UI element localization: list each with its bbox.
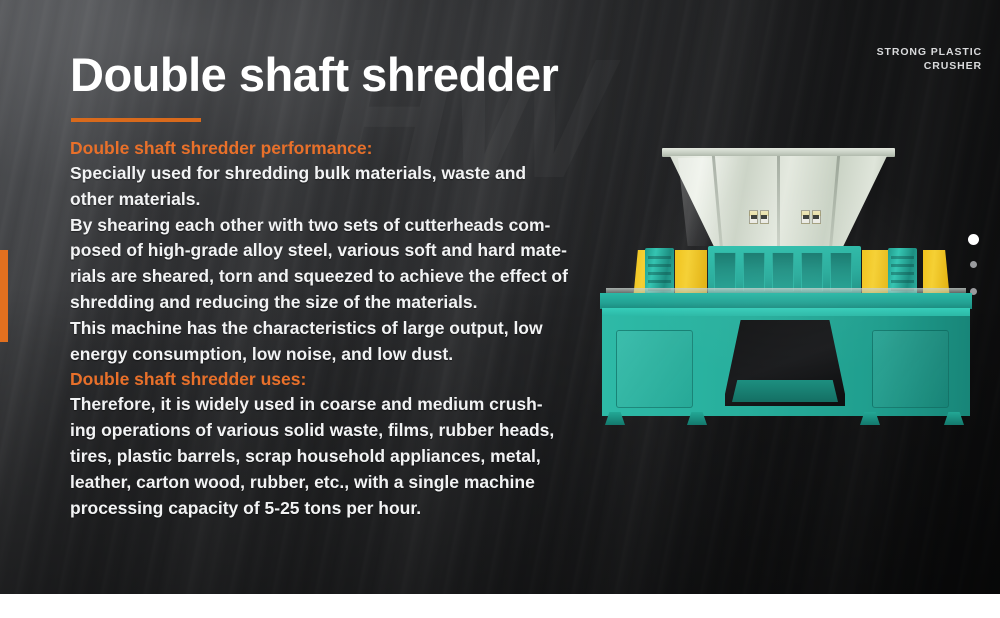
cutter-chamber — [772, 252, 794, 292]
body-line: This machine has the characteristics of … — [70, 316, 575, 342]
brand-label: STRONG PLASTIC CRUSHER — [877, 45, 982, 73]
warning-sticker-icon — [801, 210, 810, 224]
body-line: processing capacity of 5-25 tons per hou… — [70, 496, 575, 522]
body-line: other materials. — [70, 187, 575, 213]
left-accent-bar — [0, 250, 8, 342]
section-heading-uses: Double shaft shredder uses: — [70, 367, 575, 392]
hopper-warning-label — [801, 210, 821, 224]
page-title: Double shaft shredder — [70, 48, 575, 102]
body-line: Therefore, it is widely used in coarse a… — [70, 392, 575, 418]
brand-label-line-2: CRUSHER — [877, 59, 982, 73]
cutter-chamber — [801, 252, 823, 292]
deck-plate — [600, 293, 972, 309]
body-line: Specially used for shredding bulk materi… — [70, 161, 575, 187]
warning-sticker-icon — [749, 210, 758, 224]
cutter-chamber — [714, 252, 736, 292]
base-side-panel — [872, 330, 949, 408]
product-banner: HW STRONG PLASTIC CRUSHER Double shaft s… — [0, 0, 1000, 594]
body-line: rials are sheared, torn and squeezed to … — [70, 264, 575, 290]
base-inner-floor — [732, 380, 838, 402]
body-line: ing operations of various solid waste, f… — [70, 418, 575, 444]
brand-label-line-1: STRONG PLASTIC — [877, 45, 982, 59]
body-line: energy consumption, low noise, and low d… — [70, 342, 575, 368]
body-line: shredding and reducing the size of the m… — [70, 290, 575, 316]
section-heading-performance: Double shaft shredder performance: — [70, 136, 575, 161]
base-side-panel — [616, 330, 693, 408]
body-line: leather, carton wood, rubber, etc., with… — [70, 470, 575, 496]
warning-sticker-icon — [760, 210, 769, 224]
title-underline — [71, 118, 201, 122]
hopper-rib — [777, 156, 780, 250]
cutter-chamber — [830, 252, 852, 292]
body-line: posed of high-grade alloy steel, various… — [70, 238, 575, 264]
body-line: tires, plastic barrels, scrap household … — [70, 444, 575, 470]
bottom-white-strip — [0, 594, 1000, 618]
product-image-shredder — [592, 140, 980, 430]
hopper-warning-label — [749, 210, 769, 224]
warning-sticker-icon — [812, 210, 821, 224]
body-line: By shearing each other with two sets of … — [70, 213, 575, 239]
cutter-chamber — [743, 252, 765, 292]
text-column: Double shaft shredder Double shaft shred… — [70, 48, 575, 521]
